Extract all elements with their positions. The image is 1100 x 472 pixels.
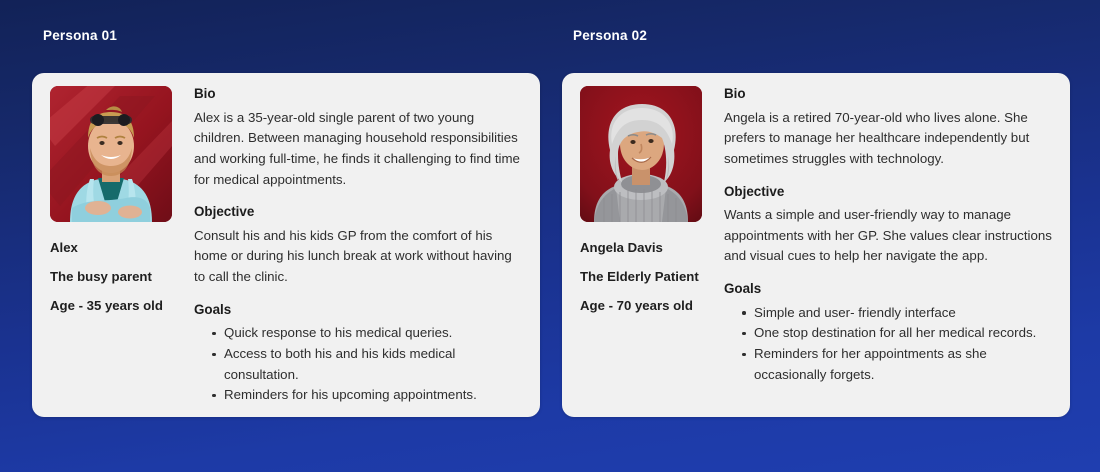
goals-section: Goals Simple and user- friendly interfac… [724, 281, 1054, 385]
goals-title: Goals [724, 281, 1054, 298]
persona-name: Alex [50, 241, 190, 254]
persona-board: Persona 01 [0, 0, 1100, 472]
persona-age: Age - 35 years old [50, 299, 190, 312]
bio-text: Alex is a 35-year-old single parent of t… [194, 108, 524, 190]
list-item: Access to both his and his kids medical … [212, 344, 524, 385]
persona-identity-01: Alex The busy parent Age - 35 years old [50, 86, 190, 403]
objective-text: Wants a simple and user-friendly way to … [724, 205, 1054, 267]
persona-role: The busy parent [50, 270, 190, 283]
goals-title: Goals [194, 302, 524, 319]
persona-role: The Elderly Patient [580, 270, 720, 283]
persona-details-01: Bio Alex is a 35-year-old single parent … [190, 86, 524, 403]
persona-name: Angela Davis [580, 241, 720, 254]
persona-details-02: Bio Angela is a retired 70-year-old who … [720, 86, 1054, 403]
objective-section: Objective Wants a simple and user-friend… [724, 184, 1054, 268]
bio-section: Bio Angela is a retired 70-year-old who … [724, 86, 1054, 170]
bio-title: Bio [194, 86, 524, 103]
persona-meta-02: Angela Davis The Elderly Patient Age - 7… [580, 241, 720, 313]
objective-title: Objective [724, 184, 1054, 201]
bio-text: Angela is a retired 70-year-old who live… [724, 108, 1054, 170]
persona-photo-alex [50, 86, 172, 222]
objective-text: Consult his and his kids GP from the com… [194, 226, 524, 288]
objective-section: Objective Consult his and his kids GP fr… [194, 204, 524, 288]
persona-photo-angela [580, 86, 702, 222]
persona-column-02: Persona 02 [562, 0, 1070, 472]
persona-label-02: Persona 02 [573, 28, 647, 43]
persona-label-01: Persona 01 [43, 28, 117, 43]
goals-list: Simple and user- friendly interface One … [724, 303, 1054, 385]
list-item: Reminders for his upcoming appointments. [212, 385, 524, 406]
list-item: One stop destination for all her medical… [742, 323, 1054, 344]
goals-section: Goals Quick response to his medical quer… [194, 302, 524, 406]
list-item: Reminders for her appointments as she oc… [742, 344, 1054, 385]
list-item: Simple and user- friendly interface [742, 303, 1054, 324]
persona-age: Age - 70 years old [580, 299, 720, 312]
persona-card-02: Angela Davis The Elderly Patient Age - 7… [562, 73, 1070, 417]
persona-card-01: Alex The busy parent Age - 35 years old … [32, 73, 540, 417]
persona-identity-02: Angela Davis The Elderly Patient Age - 7… [580, 86, 720, 403]
objective-title: Objective [194, 204, 524, 221]
bio-section: Bio Alex is a 35-year-old single parent … [194, 86, 524, 190]
persona-meta-01: Alex The busy parent Age - 35 years old [50, 241, 190, 313]
list-item: Quick response to his medical queries. [212, 323, 524, 344]
persona-column-01: Persona 01 [32, 0, 540, 472]
goals-list: Quick response to his medical queries. A… [194, 323, 524, 405]
bio-title: Bio [724, 86, 1054, 103]
